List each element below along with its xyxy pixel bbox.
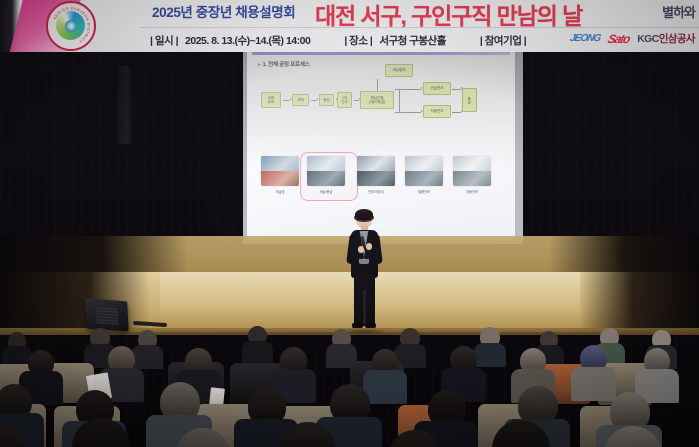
flow-arrow <box>395 112 421 113</box>
flow-box: 미삼정리 <box>385 64 413 77</box>
slide-photo-strip: 채굴공 세삼/증삼 건부/저장사 밀봉건조 자동건조 <box>259 156 505 204</box>
banner-divider <box>140 27 699 28</box>
date-label: | 일시 | <box>150 33 178 48</box>
projection-screen: 한국인삼공사 채용설명회 ▸1. 전체 공정 프로세스 우량묘소 세척 증삼 1… <box>247 38 515 240</box>
flow-connector <box>377 79 378 91</box>
conference-photo-scene: SEO-GU DAEJEON DISTRICT 2025년 중장년 채용설명회 … <box>0 0 699 447</box>
flow-arrow <box>395 89 421 90</box>
presenter-hand-left <box>358 246 364 253</box>
companies-label: | 참여기업 | <box>480 33 526 48</box>
flow-box: 인삼건조 <box>423 82 451 95</box>
banner-meta-row: | 일시 | 2025. 8. 13.(수)~14.(목) 14:00 | 장소… <box>150 31 526 49</box>
flow-box: 포장 <box>462 88 477 112</box>
seo-gu-district-emblem: SEO-GU DAEJEON DISTRICT <box>46 1 96 51</box>
seated-audience <box>0 272 699 447</box>
place-label: | 장소 | <box>344 33 372 48</box>
flow-box: 증삼 <box>319 94 334 106</box>
slide-thumbnail-caption: 세삼/증삼 <box>306 189 346 194</box>
slide-thumbnail-caption: 채굴공 <box>260 189 300 194</box>
flow-box: 1차건조 <box>337 92 352 108</box>
flow-arrow <box>354 100 359 101</box>
sponsor-logo-blue: JEONG <box>569 33 601 44</box>
banner-subtitle: 2025년 중장년 채용설명회 <box>152 1 295 21</box>
banner-brush-mark: 별하와 <box>662 2 695 21</box>
presenter-hair <box>355 209 373 220</box>
slide-thumbnail <box>405 156 443 186</box>
slide-thumbnail <box>307 156 345 186</box>
process-flow-diagram: 우량묘소 세척 증삼 1차건조 편삼선별(1등/2등급) 미삼정리 인삼건조 자… <box>247 38 515 240</box>
flow-box: 편삼선별(1등/2등급) <box>360 91 394 109</box>
slide-thumbnail <box>357 156 395 186</box>
slide-thumbnail-caption: 자동건조 <box>452 189 492 194</box>
flow-box: 자동건조 <box>423 105 451 118</box>
slide-thumbnail-caption: 밀봉건조 <box>404 189 444 194</box>
flow-arrow <box>311 100 317 101</box>
flow-arrow <box>452 112 461 113</box>
svg-text:SEO-GU DAEJEON DISTRICT: SEO-GU DAEJEON DISTRICT <box>53 6 91 43</box>
date-value: 2025. 8. 13.(수)~14.(목) 14:00 <box>185 33 310 48</box>
slide-thumbnail-caption: 건부/저장사 <box>356 189 396 194</box>
wall-speaker-column <box>118 66 133 144</box>
slide-thumbnail <box>453 156 491 186</box>
presenter-hand-right <box>366 243 372 250</box>
emblem-ring-text: SEO-GU DAEJEON DISTRICT <box>48 3 94 49</box>
sponsor-logo-kgc: KGC인삼공사 <box>637 31 695 46</box>
flow-arrow <box>283 100 290 101</box>
place-value: 서구청 구봉산홀 <box>379 33 446 48</box>
sponsor-logo-sato: Sato <box>606 32 631 46</box>
event-banner: SEO-GU DAEJEON DISTRICT 2025년 중장년 채용설명회 … <box>0 0 699 52</box>
flow-arrow <box>452 89 461 90</box>
slide-thumbnail <box>261 156 299 186</box>
flow-box: 세척 <box>292 94 309 106</box>
flow-box: 우량묘소 <box>261 92 281 108</box>
sponsor-logos: JEONG Sato KGC인삼공사 <box>570 31 695 46</box>
flow-connector <box>399 90 400 112</box>
